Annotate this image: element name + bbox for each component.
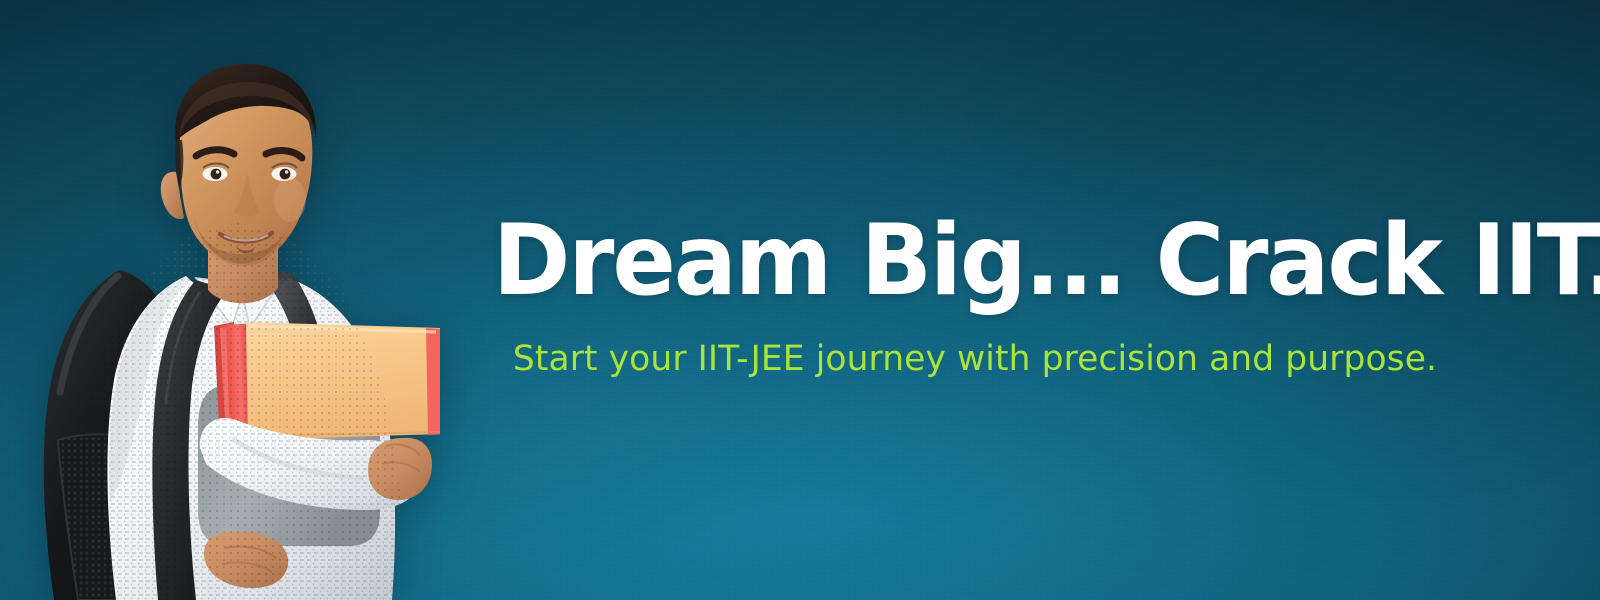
banner-subtitle: Start your IIT-JEE journey with precisio… <box>478 338 1473 380</box>
head <box>161 64 316 266</box>
hand <box>368 438 432 500</box>
student-photo <box>0 40 440 600</box>
hero-banner: Dream Big... Crack IIT. Start your IIT-J… <box>0 0 1600 600</box>
banner-copy: Dream Big... Crack IIT. Start your IIT-J… <box>470 212 1480 380</box>
page-title: Dream Big... Crack IIT. <box>493 212 1458 310</box>
